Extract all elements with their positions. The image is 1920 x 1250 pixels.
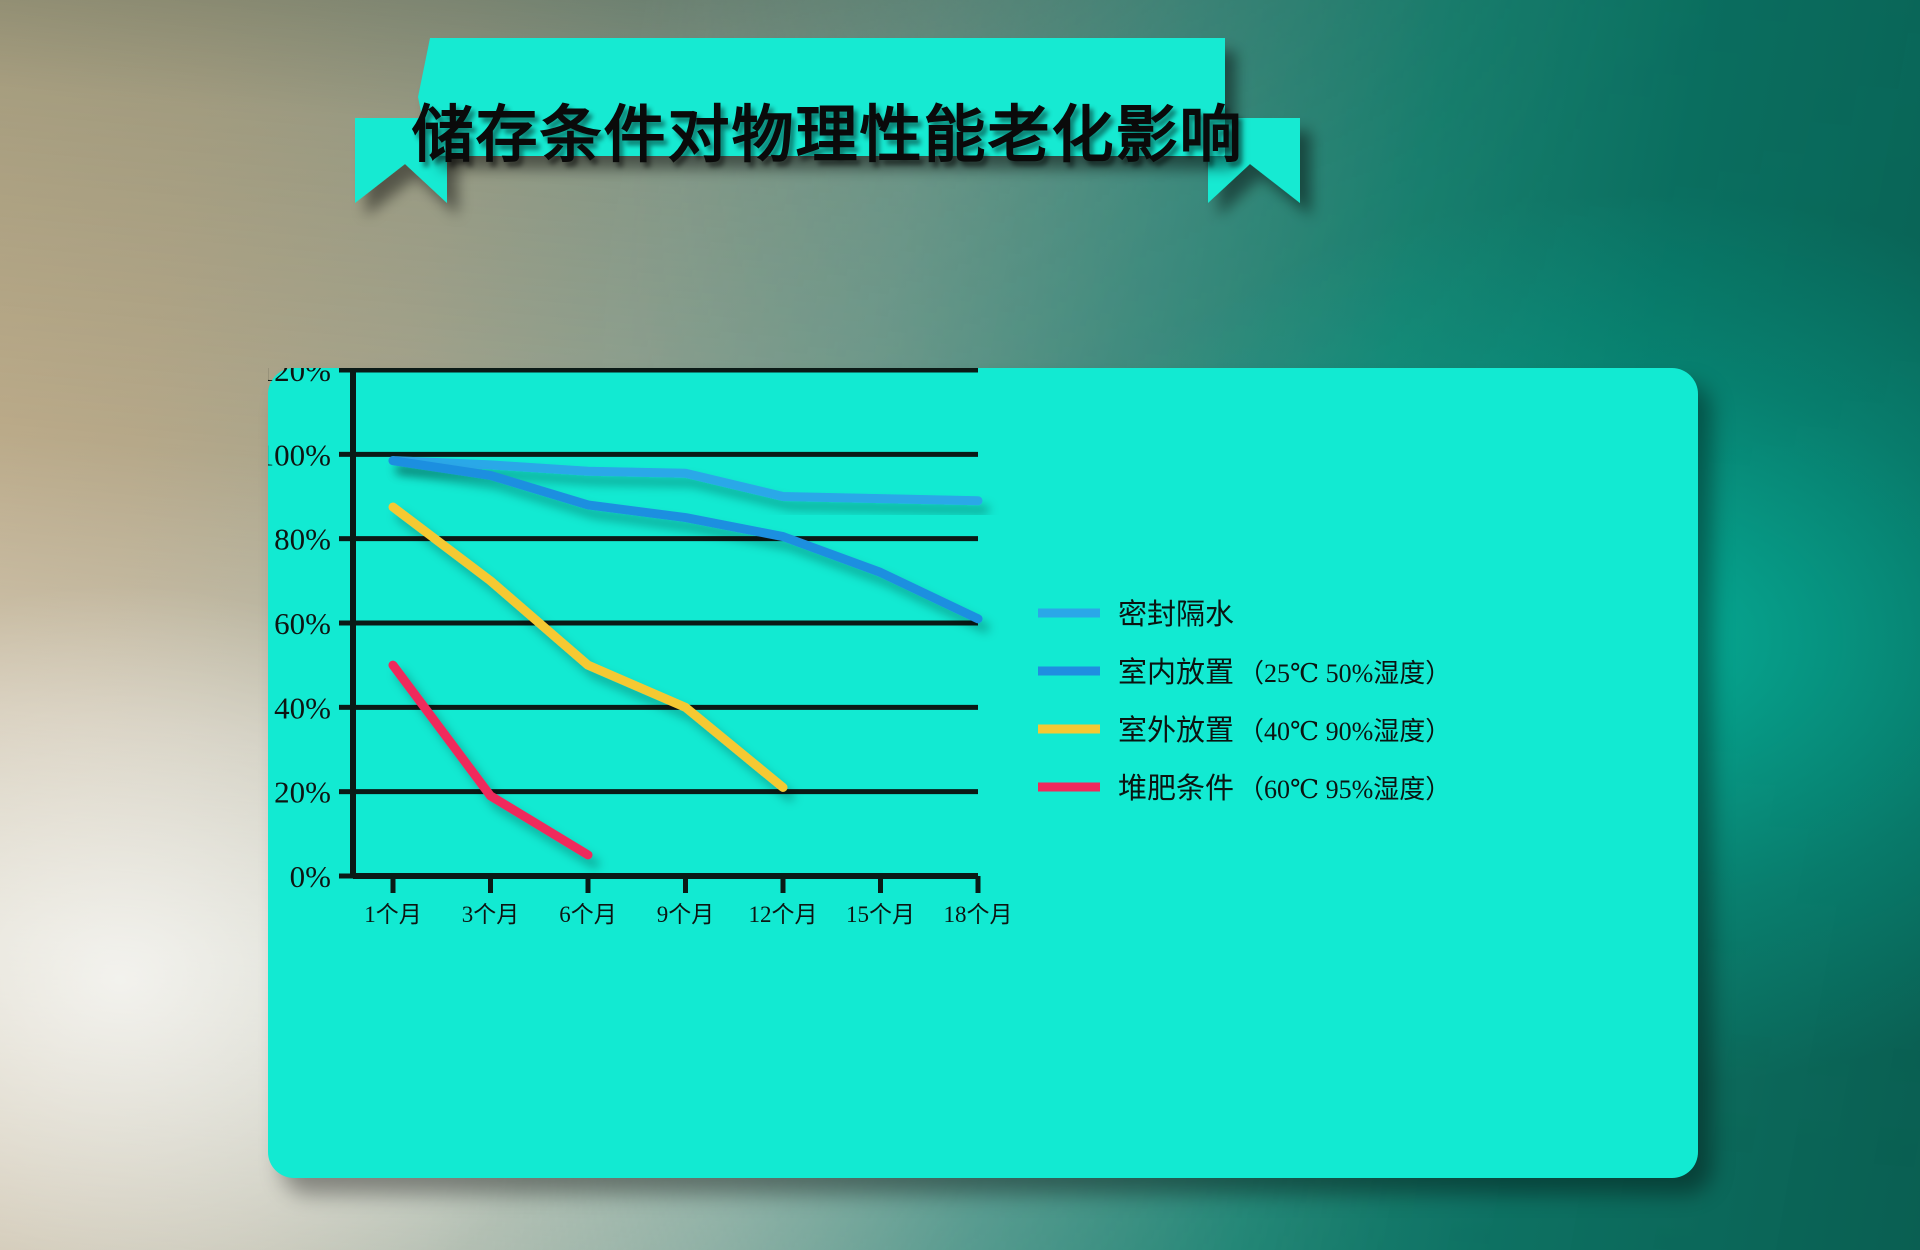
x-tick-label: 6个月 [559, 902, 617, 927]
y-tick-label: 20% [274, 775, 331, 810]
x-tick-label: 1个月 [364, 902, 422, 927]
x-tick-label: 9个月 [657, 902, 715, 927]
chart-card: 120%100%80%60%40%20%0% 1个月3个月6个月9个月12个月1… [268, 368, 1698, 1178]
y-tick-label: 40% [274, 690, 331, 725]
x-tick-label: 12个月 [749, 902, 818, 927]
chart-gridlines [353, 370, 978, 792]
chart-y-axis: 120%100%80%60%40%20%0% [268, 368, 353, 894]
y-tick-label: 120% [268, 368, 331, 388]
y-tick-label: 80% [274, 522, 331, 557]
legend-label: 室外放置（40℃ 90%湿度） [1118, 714, 1451, 747]
y-tick-label: 0% [290, 859, 331, 894]
y-tick-label: 100% [268, 437, 331, 472]
chart-plot-area: 120%100%80%60%40%20%0% 1个月3个月6个月9个月12个月1… [268, 368, 1698, 1178]
legend-label: 密封隔水 [1118, 598, 1234, 631]
x-tick-label: 18个月 [944, 902, 1013, 927]
series-line-1 [393, 461, 978, 501]
x-tick-label: 3个月 [462, 902, 520, 927]
y-tick-label: 60% [274, 606, 331, 641]
ribbon-banner [418, 38, 1225, 156]
title-ribbon: 储存条件对物理性能老化影响 [355, 38, 1300, 218]
legend-label: 室内放置（25℃ 50%湿度） [1118, 656, 1451, 689]
series-line-4 [393, 665, 588, 855]
chart-series-lines [393, 461, 978, 855]
legend-label: 堆肥条件（60℃ 95%湿度） [1118, 772, 1451, 805]
slide-canvas: 储存条件对物理性能老化影响 120%100%80%60%40%20%0% 1个月… [0, 0, 1920, 1250]
x-tick-label: 15个月 [846, 902, 915, 927]
chart-legend: 密封隔水室内放置（25℃ 50%湿度）室外放置（40℃ 90%湿度）堆肥条件（6… [1038, 598, 1451, 805]
